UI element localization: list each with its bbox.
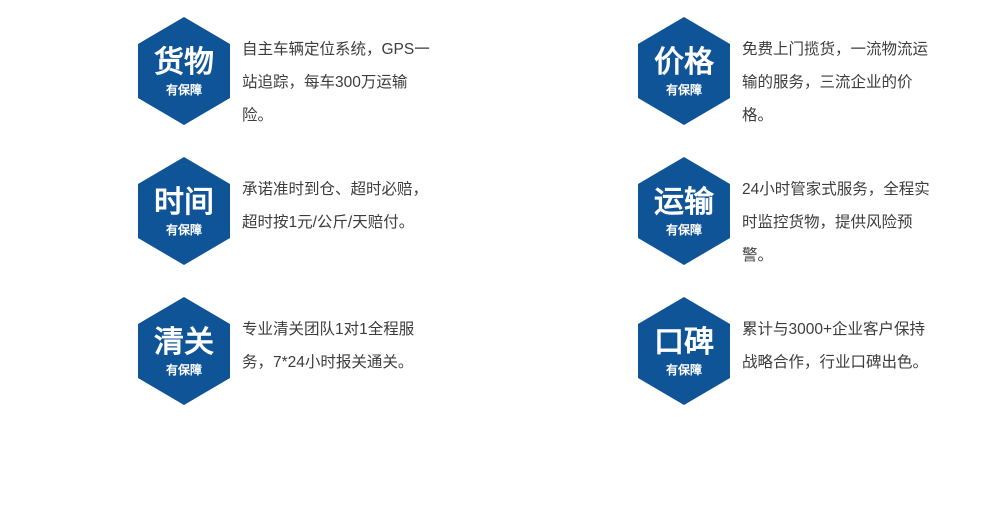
feature-description: 累计与3000+企业客户保持战略合作，行业口碑出色。	[730, 295, 968, 379]
badge-title: 货物	[154, 47, 214, 79]
hexagon-badge-icon: 时间 有保障	[138, 157, 230, 265]
feature-item-transport[interactable]: 运输 有保障 24小时管家式服务，全程实时监控货物，提供风险预警。	[500, 155, 1000, 295]
badge-subtitle: 有保障	[166, 363, 202, 377]
badge-subtitle: 有保障	[166, 223, 202, 237]
badge-title: 运输	[654, 187, 714, 219]
badge-title: 价格	[654, 47, 714, 79]
badge-subtitle: 有保障	[666, 223, 702, 237]
hexagon-badge-icon: 货物 有保障	[138, 17, 230, 125]
feature-description: 专业清关团队1对1全程服务，7*24小时报关通关。	[230, 295, 468, 379]
feature-item-price[interactable]: 价格 有保障 免费上门揽货，一流物流运输的服务，三流企业的价格。	[500, 15, 1000, 155]
hexagon-badge-icon: 清关 有保障	[138, 297, 230, 405]
badge-subtitle: 有保障	[166, 83, 202, 97]
feature-item-reputation[interactable]: 口碑 有保障 累计与3000+企业客户保持战略合作，行业口碑出色。	[500, 295, 1000, 435]
hexagon-badge-icon: 运输 有保障	[638, 157, 730, 265]
feature-item-customs[interactable]: 清关 有保障 专业清关团队1对1全程服务，7*24小时报关通关。	[0, 295, 500, 435]
feature-description: 24小时管家式服务，全程实时监控货物，提供风险预警。	[730, 155, 968, 272]
badge-title: 时间	[154, 187, 214, 219]
hexagon-badge-icon: 价格 有保障	[638, 17, 730, 125]
feature-description: 免费上门揽货，一流物流运输的服务，三流企业的价格。	[730, 15, 968, 132]
feature-description: 自主车辆定位系统，GPS一站追踪，每车300万运输险。	[230, 15, 468, 132]
badge-subtitle: 有保障	[666, 363, 702, 377]
badge-subtitle: 有保障	[666, 83, 702, 97]
badge-title: 口碑	[654, 327, 714, 359]
feature-highlights-board: 货物 有保障 自主车辆定位系统，GPS一站追踪，每车300万运输险。 价格 有保…	[0, 0, 1000, 500]
feature-item-cargo[interactable]: 货物 有保障 自主车辆定位系统，GPS一站追踪，每车300万运输险。	[0, 15, 500, 155]
hexagon-badge-icon: 口碑 有保障	[638, 297, 730, 405]
feature-item-time[interactable]: 时间 有保障 承诺准时到仓、超时必赔，超时按1元/公斤/天赔付。	[0, 155, 500, 295]
badge-title: 清关	[154, 327, 214, 359]
bottom-spacer	[0, 435, 1000, 515]
feature-description: 承诺准时到仓、超时必赔，超时按1元/公斤/天赔付。	[230, 155, 468, 239]
feature-grid: 货物 有保障 自主车辆定位系统，GPS一站追踪，每车300万运输险。 价格 有保…	[0, 0, 1000, 500]
